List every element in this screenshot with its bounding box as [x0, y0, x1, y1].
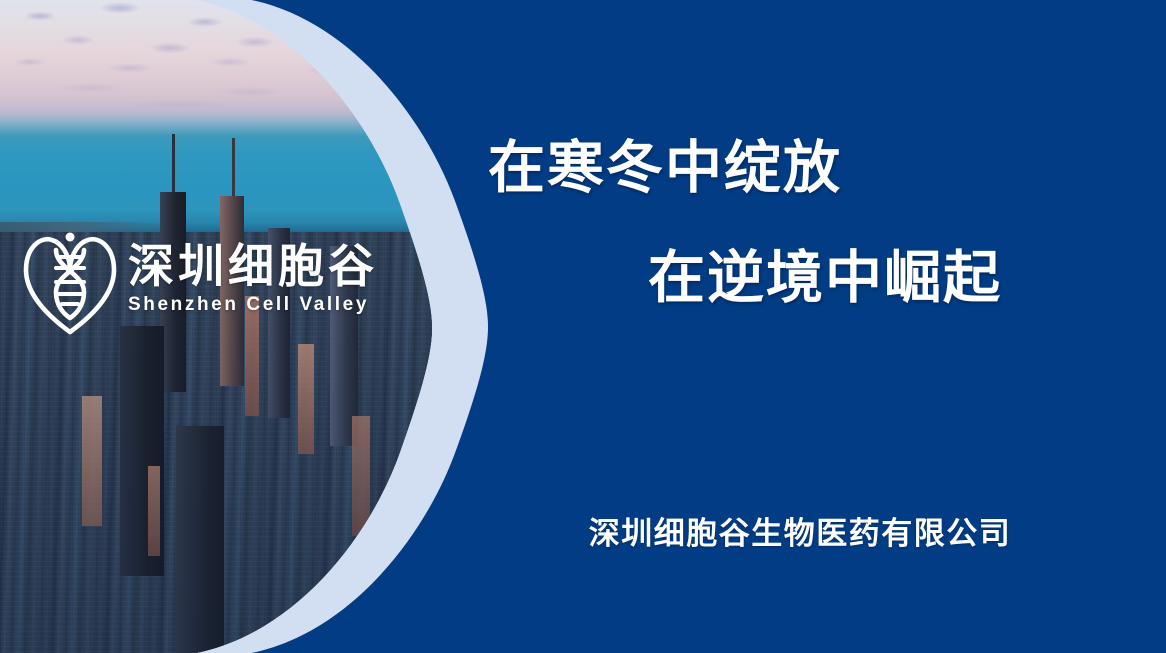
- warm-facade-c: [82, 396, 102, 526]
- logo-english-name: Shenzhen Cell Valley: [128, 293, 378, 317]
- tower-foreground-slab: [176, 426, 224, 653]
- headline-line-1: 在寒冬中绽放: [488, 140, 1130, 197]
- tower-spire-right: [232, 138, 235, 196]
- sunset-clouds: [0, 0, 500, 126]
- tower-foreground-dark: [120, 326, 164, 576]
- company-name: 深圳细胞谷生物医药有限公司: [470, 508, 1130, 553]
- presentation-slide: 深圳细胞谷 Shenzhen Cell Valley 在寒冬中绽放 在逆境中崛起…: [0, 0, 1166, 653]
- tower-spire-left: [172, 134, 175, 194]
- logo-text-lockup: 深圳细胞谷 Shenzhen Cell Valley: [128, 242, 378, 317]
- company-logo[interactable]: 深圳细胞谷 Shenzhen Cell Valley: [18, 222, 408, 337]
- headline-line-2: 在逆境中崛起: [648, 250, 1130, 307]
- dna-heart-logo-icon: [18, 224, 122, 336]
- headline: 在寒冬中绽放 在逆境中崛起: [470, 140, 1130, 307]
- left-artwork: 深圳细胞谷 Shenzhen Cell Valley: [0, 0, 500, 653]
- warm-facade-e: [352, 416, 370, 536]
- warm-facade-d: [148, 466, 160, 556]
- logo-chinese-name: 深圳细胞谷: [128, 242, 378, 292]
- warm-facade-b: [298, 344, 314, 454]
